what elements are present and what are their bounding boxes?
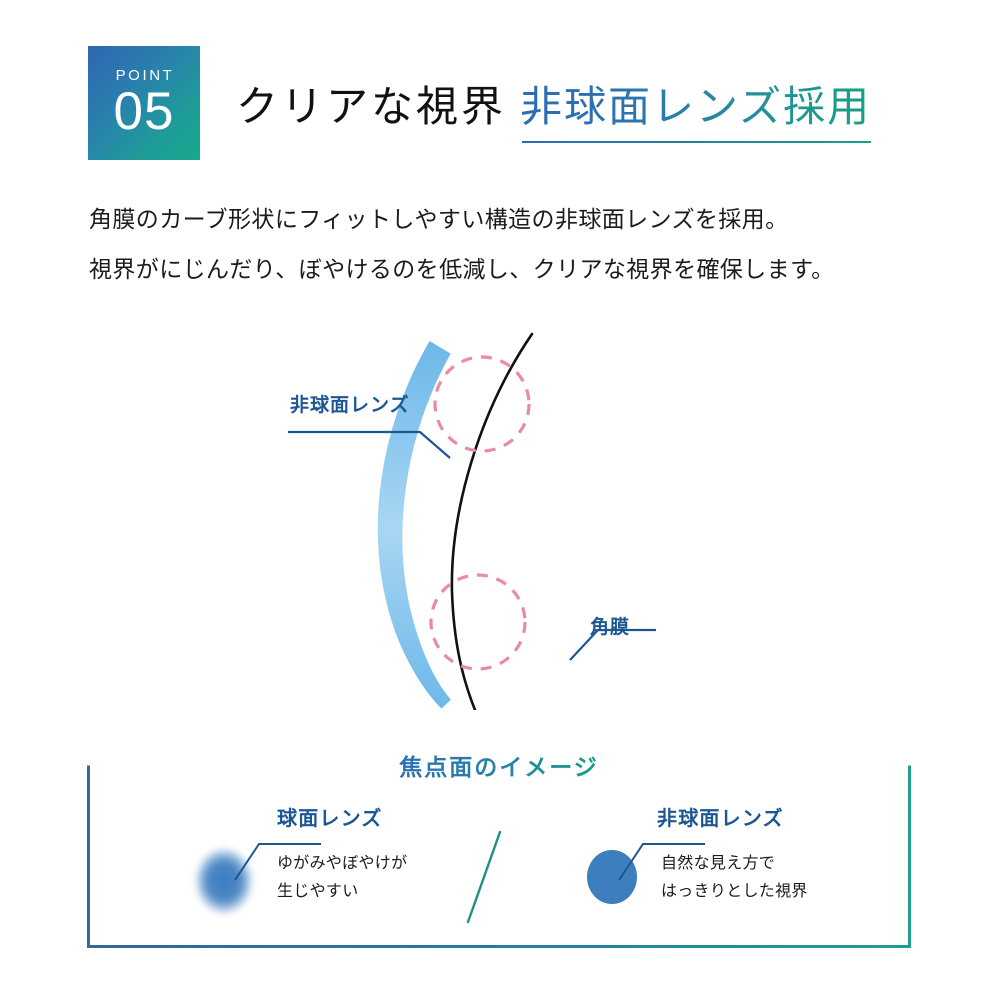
lead-line-1: 角膜のカーブ形状にフィットしやすい構造の非球面レンズを採用。 [89,203,929,236]
column-desc-spherical-line1: ゆがみやぼやけが [277,850,407,878]
point-badge: POINT 05 [88,46,200,160]
page-title-accent: 非球面レンズ採用 [520,83,871,130]
column-desc-aspheric: 自然な見え方で はっきりとした視界 [661,850,808,905]
column-spherical-lens: 球面レンズ ゆがみやぼやけが 生じやすい [173,764,503,948]
infographic-page: POINT 05 クリアな視界 非球面レンズ採用 角膜のカーブ形状にフィットしや… [0,0,1000,1000]
lens-diagram-svg [150,330,870,710]
highlight-circle-top [435,357,529,451]
page-title-plain: クリアな視界 [236,73,506,134]
leader-line-lens [288,432,450,458]
title-underline [522,141,871,143]
column-divider-slash [456,826,516,930]
point-badge-number: 05 [114,87,175,137]
page-title-accent-wrap: 非球面レンズ採用 [520,73,871,134]
column-aspheric-lens: 非球面レンズ 自然な見え方で はっきりとした視界 [561,764,891,948]
diagram-label-aspheric-lens: 非球面レンズ [290,390,410,417]
column-heading-aspheric: 非球面レンズ [657,802,784,831]
lead-line-2: 視界がにじんだり、ぼやけるのを低減し、クリアな視界を確保します。 [89,253,929,286]
header: POINT 05 クリアな視界 非球面レンズ採用 [88,46,871,160]
point-badge-word: POINT [114,68,175,83]
column-desc-aspheric-line1: 自然な見え方で [661,850,808,878]
lead-paragraph: 角膜のカーブ形状にフィットしやすい構造の非球面レンズを採用。 視界がにじんだり、… [89,203,929,302]
lens-cross-section-diagram: 非球面レンズ 角膜 [150,330,870,710]
column-desc-aspheric-line2: はっきりとした視界 [661,878,808,906]
column-desc-spherical: ゆがみやぼやけが 生じやすい [277,850,407,905]
diagram-label-cornea: 角膜 [590,612,630,639]
column-desc-spherical-line2: 生じやすい [277,878,407,906]
cornea-curve [452,334,532,710]
highlight-circle-bottom [431,575,525,669]
column-heading-spherical: 球面レンズ [277,802,383,831]
page-title: クリアな視界 非球面レンズ採用 [236,73,871,134]
